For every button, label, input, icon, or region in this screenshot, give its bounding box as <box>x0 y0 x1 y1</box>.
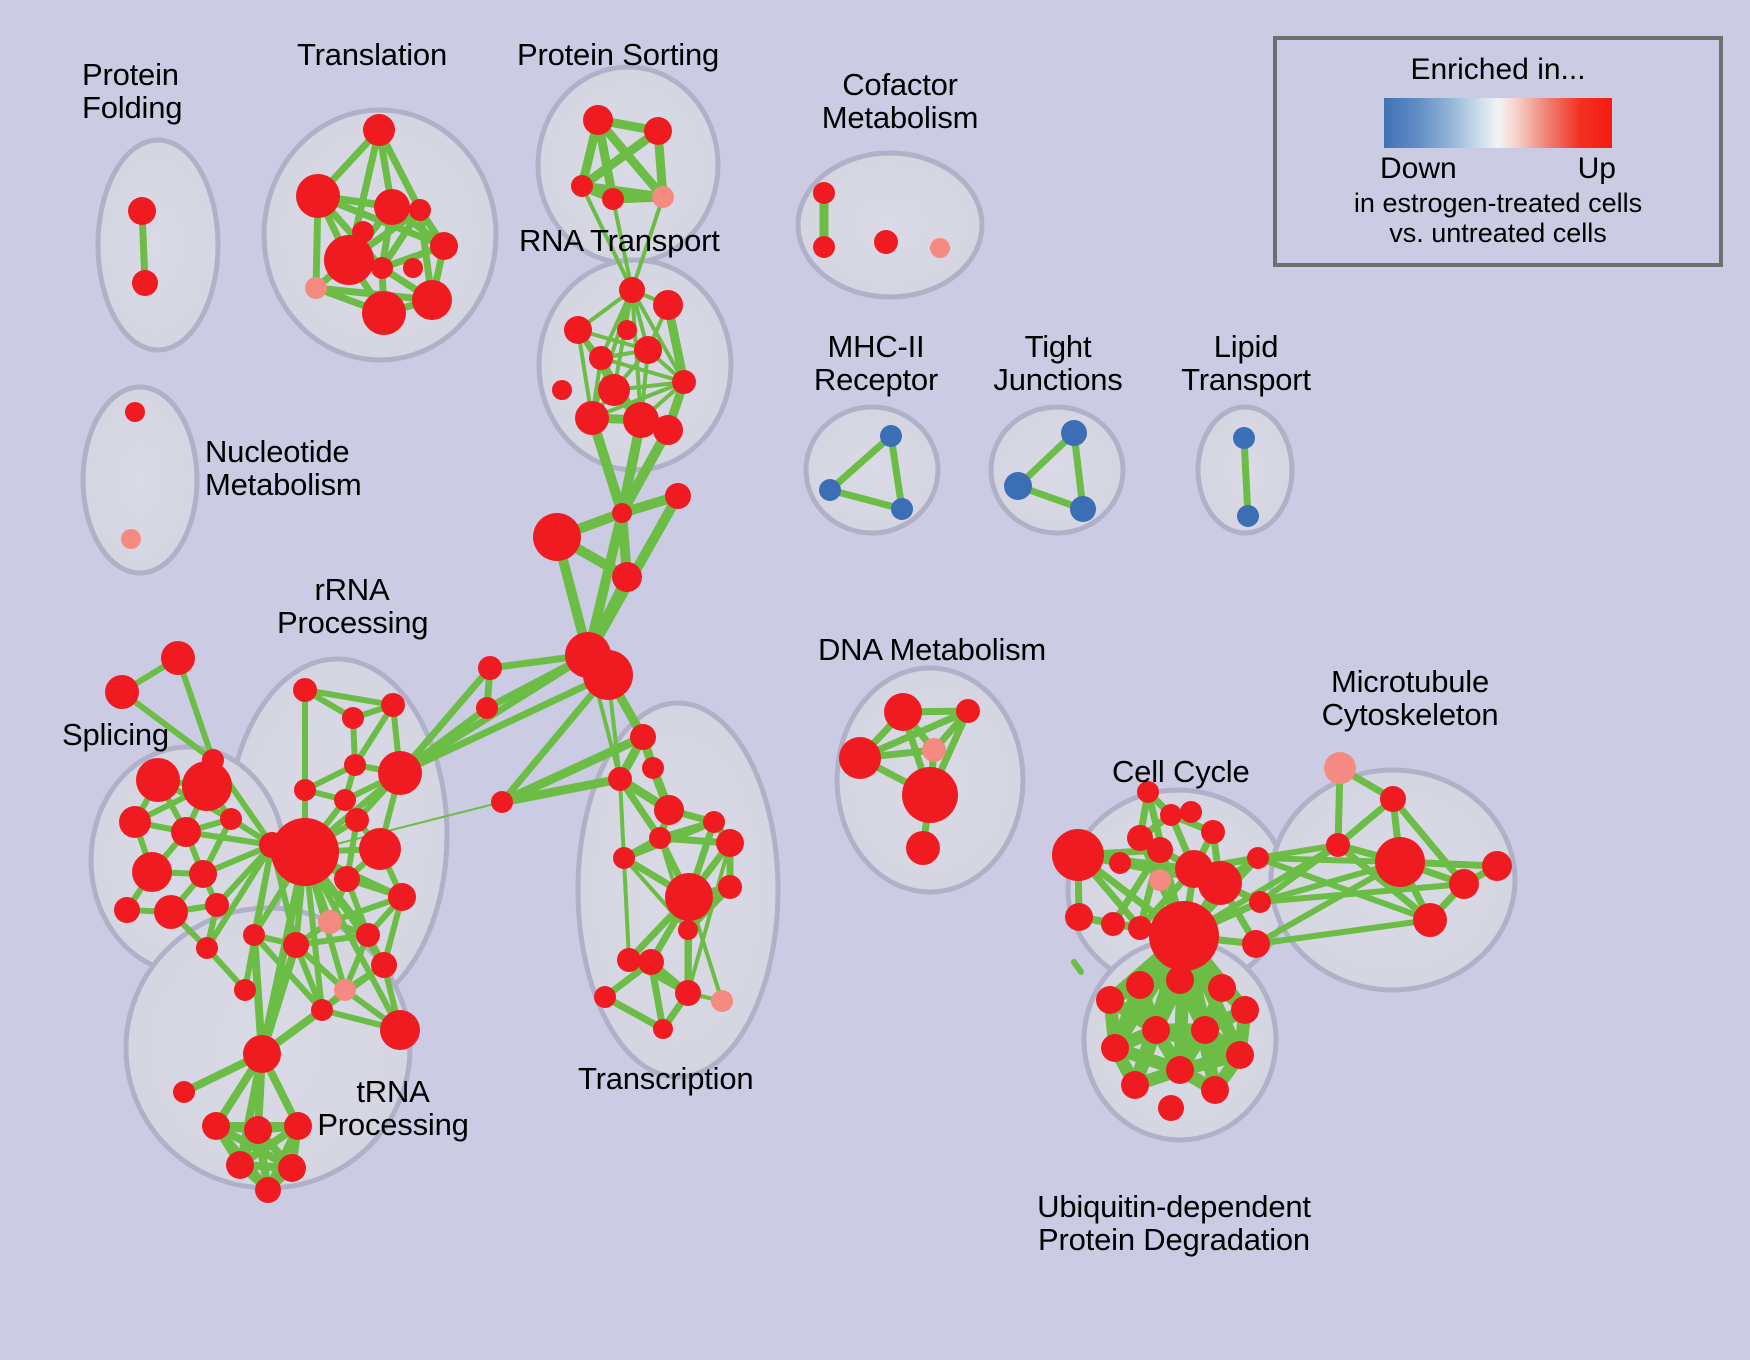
label-transcription: Transcription <box>578 1062 753 1095</box>
label-tight-junctions: TightJunctions <box>988 330 1128 397</box>
hull-tight-junctions <box>991 407 1123 533</box>
label-translation: Translation <box>297 38 447 71</box>
label-trna-processing: tRNAProcessing <box>313 1075 473 1142</box>
label-nucleotide-metabolism: NucleotideMetabolism <box>205 435 362 502</box>
legend-down-label: Down <box>1380 152 1457 186</box>
hull-mhc <box>806 407 938 533</box>
legend-subtitle: in estrogen-treated cells vs. untreated … <box>1354 188 1642 248</box>
legend-subtitle-line2: vs. untreated cells <box>1389 218 1607 248</box>
enrichment-map-figure: ProteinFolding Translation Protein Sorti… <box>0 0 1750 1360</box>
label-splicing: Splicing <box>62 718 169 751</box>
label-cell-cycle: Cell Cycle <box>1112 755 1250 788</box>
label-cofactor-metabolism: CofactorMetabolism <box>815 68 985 135</box>
label-ubiquitin-degradation: Ubiquitin-dependentProtein Degradation <box>1000 1190 1348 1257</box>
label-microtubule-cytoskeleton: MicrotubuleCytoskeleton <box>1320 665 1500 732</box>
legend-subtitle-line1: in estrogen-treated cells <box>1354 188 1642 218</box>
label-protein-folding: ProteinFolding <box>82 58 182 125</box>
label-mhc-ii-receptor: MHC-IIReceptor <box>806 330 946 397</box>
label-lipid-transport: LipidTransport <box>1175 330 1317 397</box>
legend-up-label: Up <box>1578 152 1616 186</box>
label-rrna-processing: rRNAProcessing <box>277 573 427 640</box>
label-protein-sorting: Protein Sorting <box>517 38 719 71</box>
legend-title: Enriched in... <box>1410 53 1585 87</box>
legend-color-gradient <box>1384 98 1612 148</box>
label-rna-transport: RNA Transport <box>519 224 720 257</box>
legend-endpoint-labels: Down Up <box>1380 152 1616 186</box>
label-dna-metabolism: DNA Metabolism <box>818 633 1046 666</box>
hull-protein-folding <box>98 140 218 350</box>
legend: Enriched in... Down Up in estrogen-treat… <box>1273 36 1723 267</box>
